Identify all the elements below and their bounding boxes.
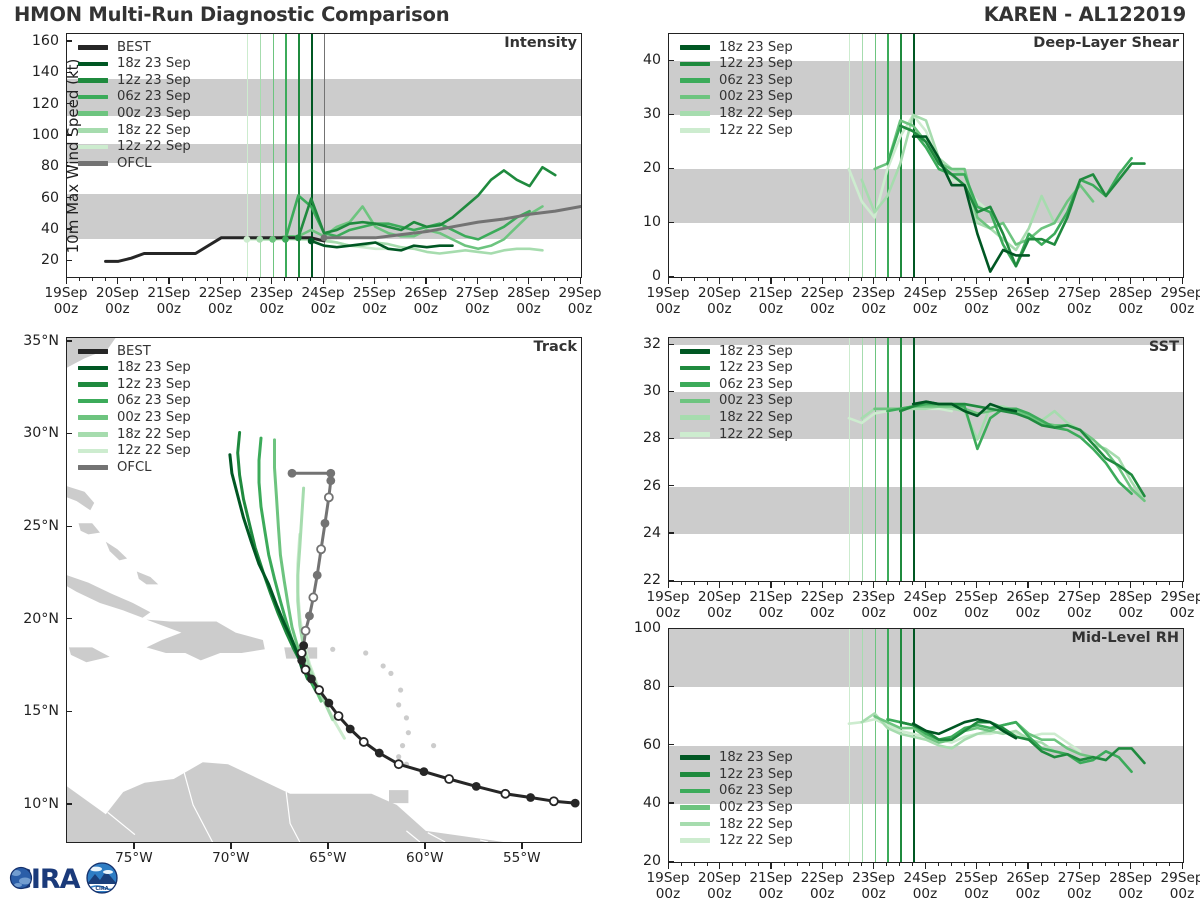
legend-label-track-0: BEST [117,345,151,358]
ytickmark-shear-4 [668,60,674,61]
xminor-rh-6-2 [1002,863,1003,866]
xminor-sst-0-1 [681,582,682,585]
xminor-intensity-1-1 [130,278,131,281]
xminor-sst-7-1 [1041,582,1042,585]
xtickmark-intensity-4 [271,278,272,284]
ytickmark-track-5 [66,340,72,341]
legend-item-0: 18z 23 Sep [680,749,793,766]
landmass [147,620,265,661]
legend-shear: 18z 23 Sep12z 23 Sep06z 23 Sep00z 23 Sep… [680,39,793,139]
xminor-shear-8-3 [1118,278,1119,281]
ytick-rh-4: 100 [634,620,661,636]
xtickmark-intensity-1 [117,278,118,284]
xminor-intensity-9-1 [541,278,542,281]
panel-deep-layer-shear: Deep-Layer Shear18z 23 Sep12z 23 Sep06z … [668,33,1184,278]
track-marker-open [360,738,368,746]
ytick-intensity-2: 60 [41,190,59,206]
track-marker-filled [321,519,330,528]
xtick-sst-10: 29Sep00z [1152,590,1200,621]
ytickmark-rh-0 [668,861,674,862]
legend-swatch-6 [78,145,108,150]
xminor-shear-4-2 [899,278,900,281]
ytickmark-intensity-0 [66,260,72,261]
legend-label-1: 12z 23 Sep [719,57,793,70]
track-marker-filled [305,612,314,621]
xminor-sst-3-2 [848,582,849,585]
xtickmark-shear-10 [1182,278,1183,284]
xminor-rh-8-1 [1092,863,1093,866]
xminor-rh-7-2 [1054,863,1055,866]
xtickmark-track-2 [327,843,328,849]
xminor-rh-3-2 [848,863,849,866]
legend-item-1: 12z 23 Sep [680,56,793,73]
xminor-sst-8-1 [1092,582,1093,585]
ytickmark-shear-3 [668,114,674,115]
xminor-rh-1-1 [732,863,733,866]
legend-swatch-3 [680,95,710,100]
ytick-shear-4: 40 [643,52,661,68]
xminor-sst-2-1 [784,582,785,585]
ytick-rh-1: 40 [643,795,661,811]
xtickmark-intensity-8 [477,278,478,284]
legend-swatch-5 [78,128,108,133]
xminor-sst-6-2 [1002,582,1003,585]
legend-item-3: 06z 23 Sep [78,89,191,106]
island [388,671,393,676]
xtickmark-rh-6 [976,863,977,869]
xminor-rh-0-3 [707,863,708,866]
xminor-intensity-8-1 [490,278,491,281]
xminor-shear-6-2 [1002,278,1003,281]
legend-item-track-1: 18z 23 Sep [78,360,191,377]
xtickmark-shear-5 [925,278,926,284]
xminor-rh-5-1 [938,863,939,866]
xminor-intensity-2-2 [195,278,196,281]
legend-item-4: 18z 22 Sep [680,409,793,426]
xtickmark-shear-3 [822,278,823,284]
ytick-intensity-1: 40 [41,221,59,237]
xtickmark-track-0 [133,843,134,849]
legend-label-track-2: 12z 23 Sep [117,378,191,391]
island [396,702,401,707]
xtick-track-1: 70°W [196,851,266,867]
legend-swatch-0 [680,349,710,354]
panel-sst: SST18z 23 Sep12z 23 Sep06z 23 Sep00z 23 … [668,337,1184,582]
legend-swatch-1 [680,772,710,777]
xminor-shear-4-1 [886,278,887,281]
xminor-rh-5-2 [951,863,952,866]
xminor-shear-4-3 [912,278,913,281]
legend-item-2: 06z 23 Sep [680,72,793,89]
xtickmark-rh-8 [1079,863,1080,869]
legend-swatch-5 [680,432,710,437]
legend-swatch-5 [680,838,710,843]
landmass [69,647,110,662]
panel-track: TrackBEST18z 23 Sep12z 23 Sep06z 23 Sep0… [66,337,582,843]
xtickmark-sst-9 [1130,582,1131,588]
legend-item-1: 18z 23 Sep [78,56,191,73]
xminor-sst-2-3 [809,582,810,585]
ytickmark-rh-2 [668,744,674,745]
xminor-intensity-6-3 [413,278,414,281]
xtickmark-track-4 [521,843,522,849]
xminor-shear-6-1 [989,278,990,281]
xminor-shear-1-2 [745,278,746,281]
xminor-intensity-3-1 [233,278,234,281]
track-marker-filled [313,571,322,580]
track-marker-filled [419,767,428,776]
legend-label-track-7: OFCL [117,461,152,474]
xtick-track-2: 65°W [293,851,363,867]
xtickmark-sst-7 [1027,582,1028,588]
xtickmark-shear-4 [873,278,874,284]
xtickmark-rh-9 [1130,863,1131,869]
legend-swatch-1 [680,62,710,67]
xtickmark-intensity-9 [528,278,529,284]
xtickmark-rh-4 [873,863,874,869]
legend-item-4: 18z 22 Sep [680,816,793,833]
series-06z-23-sep [887,719,1131,771]
legend-sst: 18z 23 Sep12z 23 Sep06z 23 Sep00z 23 Sep… [680,343,793,443]
xminor-sst-8-2 [1105,582,1106,585]
xminor-rh-3-1 [835,863,836,866]
xminor-rh-8-3 [1118,863,1119,866]
xminor-intensity-3-2 [246,278,247,281]
legend-label-3: 06z 23 Sep [117,90,191,103]
xminor-intensity-4-2 [297,278,298,281]
xtickmark-rh-5 [925,863,926,869]
legend-label-4: 18z 22 Sep [719,411,793,424]
island [381,663,386,668]
xtickmark-intensity-0 [66,278,67,284]
xtickmark-shear-2 [770,278,771,284]
landmass [67,762,581,842]
legend-label-5: 18z 22 Sep [117,124,191,137]
xminor-shear-2-1 [784,278,785,281]
island [431,743,436,748]
ytick-intensity-5: 120 [32,96,59,112]
legend-swatch-5 [680,128,710,133]
legend-swatch-track-3 [78,399,108,404]
xminor-sst-4-2 [899,582,900,585]
ytick-rh-3: 80 [643,678,661,694]
xminor-intensity-5-2 [349,278,350,281]
legend-item-5: 12z 22 Sep [680,122,793,139]
ytickmark-shear-2 [668,168,674,169]
ytickmark-rh-3 [668,686,674,687]
xminor-intensity-7-1 [439,278,440,281]
legend-label-4: 00z 23 Sep [117,107,191,120]
xtickmark-rh-2 [770,863,771,869]
legend-swatch-track-0 [78,349,108,354]
panel-mid-level-rh: Mid-Level RH18z 23 Sep12z 23 Sep06z 23 S… [668,628,1184,863]
xtickmark-rh-1 [719,863,720,869]
legend-item-track-6: 12z 22 Sep [78,443,191,460]
island [363,650,368,655]
legend-label-6: 12z 22 Sep [117,140,191,153]
xminor-rh-4-1 [886,863,887,866]
legend-item-4: 18z 22 Sep [680,105,793,122]
ytick-sst-5: 32 [643,336,661,352]
legend-swatch-7 [78,161,108,166]
legend-label-2: 06z 23 Sep [719,784,793,797]
xminor-rh-5-3 [964,863,965,866]
legend-label-7: OFCL [117,157,152,170]
legend-label-track-6: 12z 22 Sep [117,444,191,457]
svg-text:CIRA: CIRA [95,886,108,892]
xminor-intensity-5-1 [336,278,337,281]
ytickmark-track-2 [66,618,72,619]
legend-item-0: 18z 23 Sep [680,343,793,360]
xminor-shear-9-3 [1169,278,1170,281]
series-12z-23-sep [900,126,1144,266]
island [396,754,401,759]
legend-label-0: 18z 23 Sep [719,751,793,764]
legend-swatch-track-7 [78,465,108,470]
track-marker-open [298,649,306,657]
legend-label-3: 00z 23 Sep [719,394,793,407]
xminor-shear-1-1 [732,278,733,281]
track-marker-filled [346,725,355,734]
xtickmark-rh-0 [668,863,669,869]
legend-label-track-4: 00z 23 Sep [117,411,191,424]
xtickmark-sst-4 [873,582,874,588]
legend-label-2: 12z 23 Sep [117,74,191,87]
xminor-intensity-8-2 [503,278,504,281]
xminor-sst-3-3 [861,582,862,585]
xtickmark-sst-10 [1182,582,1183,588]
xtickmark-shear-8 [1079,278,1080,284]
ytick-sst-3: 28 [643,430,661,446]
xminor-rh-9-3 [1169,863,1170,866]
xminor-sst-1-3 [758,582,759,585]
legend-item-track-5: 18z 22 Sep [78,426,191,443]
xtickmark-shear-7 [1027,278,1028,284]
ytick-shear-0: 0 [652,268,661,284]
legend-item-2: 12z 23 Sep [78,72,191,89]
panel-title-intensity: Intensity [504,35,577,51]
xtickmark-intensity-6 [374,278,375,284]
legend-item-0: 18z 23 Sep [680,39,793,56]
legend-item-0: BEST [78,39,191,56]
xminor-shear-7-1 [1041,278,1042,281]
legend-item-5: 12z 22 Sep [680,832,793,849]
legend-label-track-5: 18z 22 Sep [117,428,191,441]
ytick-shear-1: 10 [643,214,661,230]
landmass [67,486,94,510]
panel-intensity: IntensityBEST18z 23 Sep12z 23 Sep06z 23 … [66,33,582,278]
xtickmark-track-1 [230,843,231,849]
xminor-rh-1-3 [758,863,759,866]
track-marker-filled [326,469,335,478]
legend-swatch-1 [78,62,108,67]
landmass [106,542,127,561]
xminor-shear-3-1 [835,278,836,281]
xminor-shear-9-2 [1156,278,1157,281]
track-marker-filled [307,675,316,684]
xminor-shear-8-2 [1105,278,1106,281]
ytickmark-track-3 [66,526,72,527]
track-marker-open [315,686,323,694]
ytick-track-5: 35°N [23,333,59,349]
xminor-sst-5-3 [964,582,965,585]
legend-item-3: 00z 23 Sep [680,393,793,410]
legend-swatch-2 [680,789,710,794]
xminor-shear-0-2 [694,278,695,281]
xminor-sst-1-1 [732,582,733,585]
xminor-sst-2-2 [797,582,798,585]
legend-label-3: 00z 23 Sep [719,801,793,814]
track-marker-open [317,545,325,553]
ytick-sst-2: 26 [643,478,661,494]
xminor-intensity-8-3 [516,278,517,281]
legend-label-1: 12z 23 Sep [719,768,793,781]
xminor-rh-4-2 [899,863,900,866]
legend-item-5: 18z 22 Sep [78,122,191,139]
xminor-intensity-0-3 [105,278,106,281]
ytickmark-track-1 [66,711,72,712]
xtick-shear-10: 29Sep00z [1152,286,1200,317]
xminor-rh-9-2 [1156,863,1157,866]
legend-label-2: 06z 23 Sep [719,378,793,391]
legend-item-3: 00z 23 Sep [680,89,793,106]
xminor-sst-9-2 [1156,582,1157,585]
xminor-intensity-4-1 [284,278,285,281]
legend-label-0: BEST [117,41,151,54]
legend-swatch-3 [680,805,710,810]
ytick-rh-2: 60 [643,737,661,753]
landmass [67,575,150,618]
xminor-shear-5-1 [938,278,939,281]
track-best [302,646,576,804]
legend-label-3: 00z 23 Sep [719,90,793,103]
xminor-intensity-6-2 [400,278,401,281]
legend-swatch-4 [680,111,710,116]
track-marker-open [445,775,453,783]
legend-item-7: OFCL [78,155,191,172]
xtickmark-shear-6 [976,278,977,284]
xminor-intensity-9-2 [554,278,555,281]
legend-swatch-3 [680,399,710,404]
xminor-rh-8-2 [1105,863,1106,866]
panel-title-rh: Mid-Level RH [1072,630,1179,646]
xminor-shear-5-3 [964,278,965,281]
ytickmark-sst-1 [668,532,674,533]
legend-rh: 18z 23 Sep12z 23 Sep06z 23 Sep00z 23 Sep… [680,749,793,849]
xminor-intensity-0-1 [79,278,80,281]
legend-item-5: 12z 22 Sep [680,426,793,443]
legend-label-4: 18z 22 Sep [719,107,793,120]
xminor-intensity-1-2 [143,278,144,281]
ytick-sst-4: 30 [643,383,661,399]
xminor-sst-9-1 [1143,582,1144,585]
legend-item-3: 00z 23 Sep [680,799,793,816]
ytick-track-1: 15°N [23,703,59,719]
legend-item-track-7: OFCL [78,459,191,476]
island [406,730,411,735]
xminor-shear-9-1 [1143,278,1144,281]
xminor-rh-7-3 [1066,863,1067,866]
xminor-intensity-6-1 [387,278,388,281]
ytick-rh-0: 20 [643,853,661,869]
xminor-shear-0-3 [707,278,708,281]
xminor-sst-7-2 [1054,582,1055,585]
ytickmark-sst-0 [668,580,674,581]
xtick-track-3: 60°W [390,851,460,867]
ytickmark-rh-4 [668,628,674,629]
legend-label-1: 12z 23 Sep [719,361,793,374]
xminor-sst-0-3 [707,582,708,585]
xtickmark-intensity-2 [168,278,169,284]
xtickmark-shear-0 [668,278,669,284]
ytick-intensity-3: 80 [41,158,59,174]
legend-swatch-0 [78,45,108,50]
cira-logo: CIRA CIRA [4,858,122,898]
ytickmark-track-4 [66,433,72,434]
island [330,647,335,652]
ytick-shear-3: 30 [643,106,661,122]
xminor-sst-4-3 [912,582,913,585]
xtickmark-sst-3 [822,582,823,588]
xtickmark-sst-1 [719,582,720,588]
series-06z-23-sep [887,404,1131,494]
xminor-intensity-7-3 [464,278,465,281]
xminor-rh-6-3 [1015,863,1016,866]
legend-item-track-0: BEST [78,343,191,360]
island [404,715,409,720]
xminor-sst-0-2 [694,582,695,585]
legend-item-6: 12z 22 Sep [78,139,191,156]
legend-label-5: 12z 22 Sep [719,834,793,847]
legend-swatch-2 [680,78,710,83]
ytick-track-0: 10°N [23,796,59,812]
legend-swatch-track-1 [78,366,108,371]
legend-item-track-4: 00z 23 Sep [78,409,191,426]
ytickmark-sst-3 [668,438,674,439]
xminor-shear-7-3 [1066,278,1067,281]
xtickmark-sst-6 [976,582,977,588]
xminor-rh-4-3 [912,863,913,866]
xminor-intensity-1-3 [156,278,157,281]
xtickmark-sst-2 [770,582,771,588]
xminor-sst-8-3 [1118,582,1119,585]
legend-label-1: 18z 23 Sep [117,57,191,70]
xminor-shear-3-2 [848,278,849,281]
xminor-rh-9-1 [1143,863,1144,866]
xtickmark-sst-8 [1079,582,1080,588]
legend-item-track-3: 06z 23 Sep [78,393,191,410]
xminor-shear-2-2 [797,278,798,281]
xtick-intensity-10: 29Sep00z [550,286,610,317]
legend-label-5: 12z 22 Sep [719,124,793,137]
xtickmark-rh-7 [1027,863,1028,869]
xtick-rh-10: 29Sep00z [1152,871,1200,902]
xminor-rh-6-1 [989,863,990,866]
legend-swatch-0 [680,755,710,760]
track-marker-open [395,760,403,768]
landmass [389,790,408,803]
landmass [79,523,100,534]
legend-item-1: 12z 23 Sep [680,766,793,783]
xminor-sst-3-1 [835,582,836,585]
xminor-intensity-2-3 [207,278,208,281]
legend-label-track-3: 06z 23 Sep [117,394,191,407]
ytickmark-rh-1 [668,802,674,803]
track-marker-filled [375,749,384,758]
track-marker-open [302,627,310,635]
legend-item-1: 12z 23 Sep [680,360,793,377]
xminor-sst-6-3 [1015,582,1016,585]
